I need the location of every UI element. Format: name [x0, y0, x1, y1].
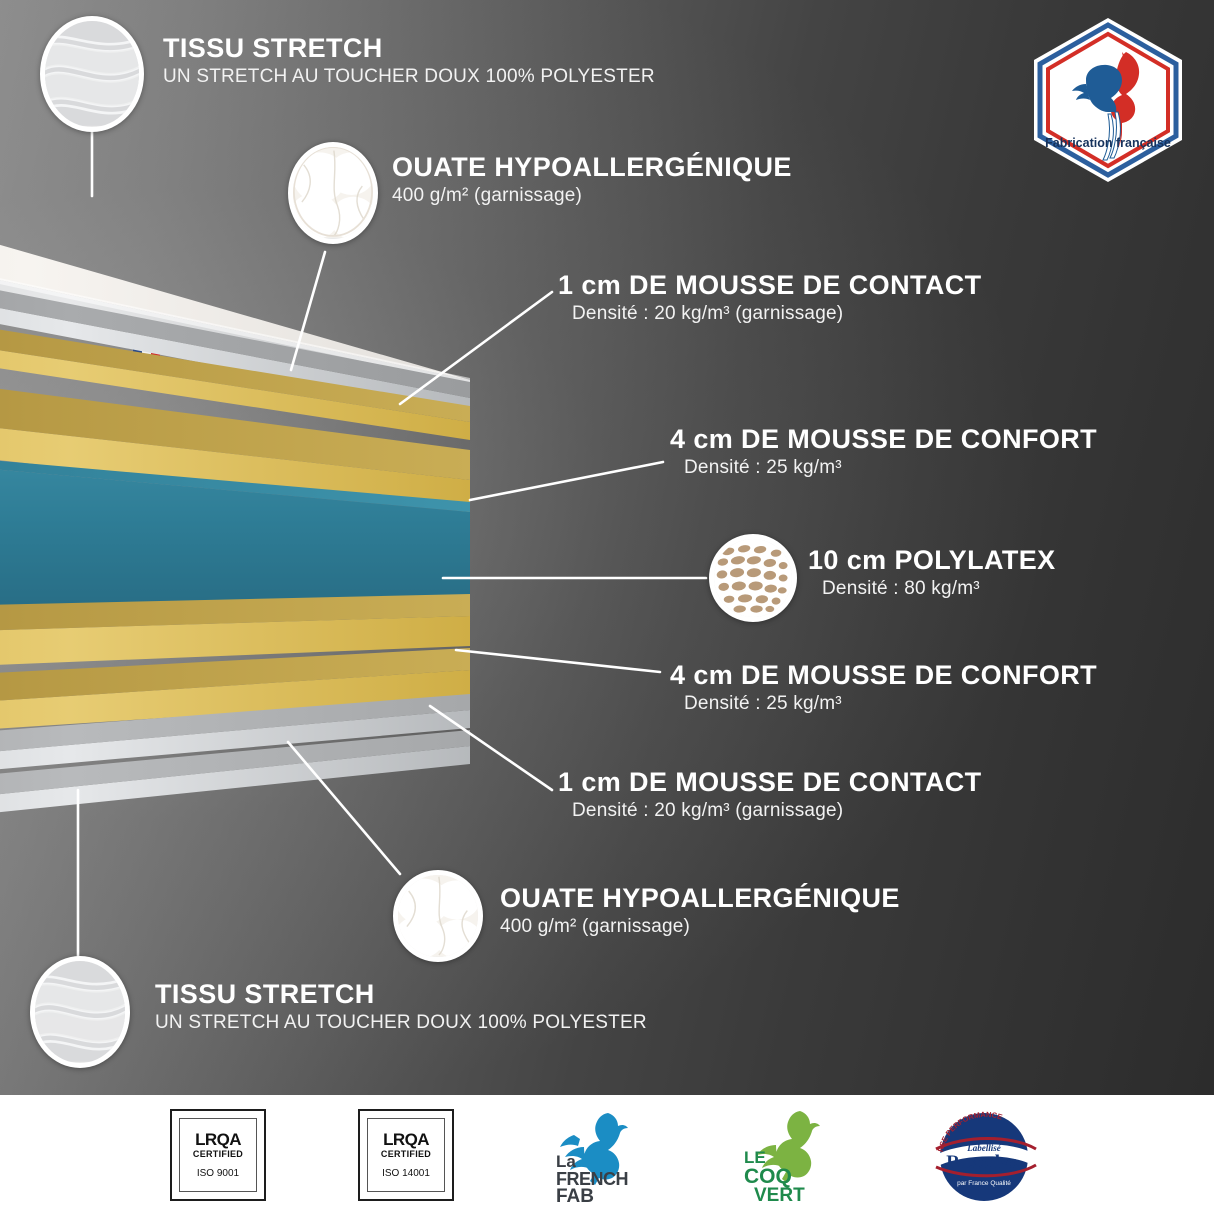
cert-lrqa-iso-9001: LRQA CERTIFIED ISO 9001 — [170, 1109, 266, 1201]
callout-subtitle: 400 g/m² (garnissage) — [392, 186, 792, 206]
callout-title: 4 cm DE MOUSSE DE CONFORT — [670, 425, 1097, 454]
callout-label-ouate-top: OUATE HYPOALLERGÉNIQUE 400 g/m² (garniss… — [392, 153, 792, 206]
callout-title: 4 cm DE MOUSSE DE CONFORT — [670, 661, 1097, 690]
hero-dark-panel: TISSU STRETCH UN STRETCH AU TOUCHER DOUX… — [0, 0, 1214, 1095]
callout-label-tissu-stretch-top: TISSU STRETCH UN STRETCH AU TOUCHER DOUX… — [163, 34, 655, 87]
callout-label-mousse-contact-top: 1 cm DE MOUSSE DE CONTACT Densité : 20 k… — [558, 271, 982, 324]
callout-label-mousse-confort-bottom: 4 cm DE MOUSSE DE CONFORT Densité : 25 k… — [670, 661, 1097, 714]
coq-vert-line3: VERT — [754, 1185, 805, 1203]
lrqa-certified: CERTIFIED — [381, 1150, 431, 1159]
callout-subtitle: Densité : 20 kg/m³ (garnissage) — [572, 304, 982, 324]
cert-lrqa-iso-14001: LRQA CERTIFIED ISO 14001 — [358, 1109, 454, 1201]
wadding-fluff-icon — [293, 147, 373, 238]
callout-subtitle: Densité : 20 kg/m³ (garnissage) — [572, 801, 982, 821]
callout-label-mousse-confort-top: 4 cm DE MOUSSE DE CONFORT Densité : 25 k… — [670, 425, 1097, 478]
lrqa-standard: ISO 9001 — [197, 1169, 239, 1179]
callout-subtitle: Densité : 25 kg/m³ — [684, 458, 1097, 478]
callout-subtitle: Densité : 25 kg/m³ — [684, 694, 1097, 714]
callout-label-polylatex: 10 cm POLYLATEX Densité : 80 kg/m³ — [808, 546, 1056, 599]
callout-title: 1 cm DE MOUSSE DE CONTACT — [558, 271, 982, 300]
fabrication-francaise-badge: Fabrication française — [1022, 14, 1194, 186]
callout-title: OUATE HYPOALLERGÉNIQUE — [500, 884, 900, 913]
callout-subtitle: UN STRETCH AU TOUCHER DOUX 100% POLYESTE… — [155, 1013, 647, 1033]
callout-label-mousse-contact-bottom: 1 cm DE MOUSSE DE CONTACT Densité : 20 k… — [558, 768, 982, 821]
lrqa-brand: LRQA — [383, 1131, 429, 1148]
cert-la-french-fab: La FRENCH FAB — [546, 1107, 646, 1203]
callout-icon-ouate-bottom — [393, 870, 483, 962]
callout-title: TISSU STRETCH — [163, 34, 655, 63]
fabric-quilted-icon — [45, 21, 139, 126]
callout-title: OUATE HYPOALLERGÉNIQUE — [392, 153, 792, 182]
rexcelys-line2: Rexcelys. — [946, 1152, 1021, 1173]
callout-label-tissu-stretch-bottom: TISSU STRETCH UN STRETCH AU TOUCHER DOUX… — [155, 980, 647, 1033]
callout-title: 1 cm DE MOUSSE DE CONTACT — [558, 768, 982, 797]
callout-icon-polylatex — [709, 534, 797, 622]
callout-subtitle: 400 g/m² (garnissage) — [500, 917, 900, 937]
badge-text: Fabrication française — [1045, 136, 1171, 150]
callout-title: TISSU STRETCH — [155, 980, 647, 1009]
fabric-quilted-icon — [35, 961, 125, 1062]
lrqa-standard: ISO 14001 — [382, 1169, 430, 1179]
cert-le-coq-vert: LE COQ VERT — [738, 1107, 834, 1203]
callout-icon-ouate-top — [288, 142, 378, 244]
rexcelys-line3: par France Qualité — [957, 1180, 1011, 1187]
wadding-fluff-icon — [398, 875, 478, 957]
french-fab-line3: FAB — [556, 1186, 594, 1203]
mattress-layers-infographic: TISSU STRETCH UN STRETCH AU TOUCHER DOUX… — [0, 0, 1214, 1214]
latex-cells-icon — [714, 539, 792, 617]
lrqa-certified: CERTIFIED — [193, 1150, 243, 1159]
callout-icon-tissu-stretch-bottom — [30, 956, 130, 1068]
callout-title: 10 cm POLYLATEX — [808, 546, 1056, 575]
callout-label-ouate-bottom: OUATE HYPOALLERGÉNIQUE 400 g/m² (garniss… — [500, 884, 900, 937]
callout-subtitle: Densité : 80 kg/m³ — [822, 579, 1056, 599]
callout-icon-tissu-stretch-top — [40, 16, 144, 132]
certification-strip: LRQA CERTIFIED ISO 9001 LRQA CERTIFIED I… — [0, 1095, 1214, 1214]
callout-subtitle: UN STRETCH AU TOUCHER DOUX 100% POLYESTE… — [163, 67, 655, 87]
cert-rexcelys: RSE PERFORMANCE Labellisé Rexcelys. par … — [926, 1105, 1044, 1205]
lrqa-brand: LRQA — [195, 1131, 241, 1148]
